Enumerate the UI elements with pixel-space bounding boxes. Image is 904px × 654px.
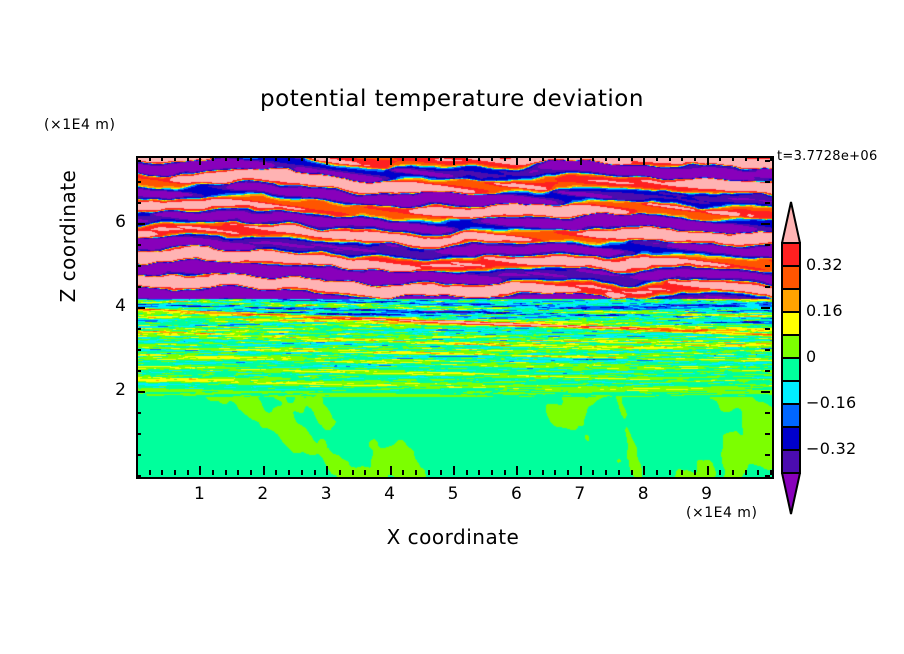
x-tick-top (212, 156, 214, 161)
x-tick-bottom (263, 466, 265, 475)
x-tick-top (529, 156, 531, 161)
z-tick-right (765, 160, 770, 162)
x-tick-bottom (314, 470, 316, 475)
x-tick-bottom (402, 470, 404, 475)
x-tick-bottom (225, 470, 227, 475)
x-tick-bottom (326, 466, 328, 475)
x-tick-top (491, 156, 493, 161)
z-tick-left (136, 349, 141, 351)
x-tick-bottom (504, 470, 506, 475)
x-tick-bottom (237, 470, 239, 475)
x-tick-top (161, 156, 163, 161)
x-tick-top (440, 156, 442, 161)
x-tick-label: 4 (375, 484, 405, 504)
x-tick-top (478, 156, 480, 161)
x-tick-bottom (377, 470, 379, 475)
x-tick-top (567, 156, 569, 161)
x-tick-bottom (554, 470, 556, 475)
x-tick-bottom (745, 470, 747, 475)
z-tick-left (136, 160, 141, 162)
colorbar-over-arrow (782, 202, 800, 243)
z-tick-right (765, 433, 770, 435)
colorbar-tick-label: −0.32 (806, 439, 857, 458)
x-tick-top (187, 156, 189, 161)
z-tick-right (765, 328, 770, 330)
x-tick-bottom (567, 470, 569, 475)
x-tick-bottom (415, 470, 417, 475)
x-tick-bottom (199, 466, 201, 475)
colorbar (781, 201, 801, 515)
colorbar-band (782, 404, 800, 427)
colorbar-band (782, 335, 800, 358)
x-tick-top (263, 156, 265, 165)
x-tick-label: 9 (692, 484, 722, 504)
x-tick-top (453, 156, 455, 165)
x-tick-bottom (631, 470, 633, 475)
x-tick-top (643, 156, 645, 165)
x-tick-top (618, 156, 620, 161)
x-tick-top (694, 156, 696, 161)
x-tick-bottom (618, 470, 620, 475)
x-tick-bottom (478, 470, 480, 475)
x-tick-bottom (453, 466, 455, 475)
x-tick-bottom (491, 470, 493, 475)
z-tick-left (136, 412, 141, 414)
x-tick-top (149, 156, 151, 161)
x-tick-bottom (428, 470, 430, 475)
x-tick-bottom (250, 470, 252, 475)
x-tick-bottom (301, 470, 303, 475)
page-title: potential temperature deviation (0, 86, 904, 112)
z-tick-left (136, 475, 141, 477)
x-tick-top (237, 156, 239, 161)
z-tick-right (765, 370, 770, 372)
x-tick-bottom (275, 470, 277, 475)
x-tick-bottom (352, 470, 354, 475)
x-tick-top (390, 156, 392, 165)
x-tick-top (415, 156, 417, 161)
x-tick-top (288, 156, 290, 161)
colorbar-band (782, 381, 800, 404)
x-tick-top (631, 156, 633, 161)
colorbar-tick-label: −0.16 (806, 393, 857, 412)
x-tick-top (516, 156, 518, 165)
x-tick-top (745, 156, 747, 161)
contour-plot-figure: potential temperature deviation (×1E4 m)… (0, 0, 904, 654)
x-axis-unit-label: (×1E4 m) (686, 505, 757, 521)
plot-area (136, 156, 774, 479)
x-tick-top (352, 156, 354, 161)
x-tick-bottom (364, 470, 366, 475)
x-axis-title: X coordinate (136, 525, 770, 549)
y-axis-title: Z coordinate (56, 146, 80, 326)
x-tick-bottom (542, 470, 544, 475)
x-tick-bottom (187, 470, 189, 475)
colorbar-band (782, 358, 800, 381)
x-tick-bottom (694, 470, 696, 475)
x-tick-top (681, 156, 683, 161)
z-tick-right (765, 475, 770, 477)
x-tick-top (402, 156, 404, 161)
x-tick-top (326, 156, 328, 165)
x-tick-top (339, 156, 341, 161)
x-tick-label: 1 (184, 484, 214, 504)
x-tick-bottom (719, 470, 721, 475)
z-tick-left (136, 223, 145, 225)
x-tick-bottom (466, 470, 468, 475)
x-tick-top (250, 156, 252, 161)
z-tick-right (761, 391, 770, 393)
x-tick-bottom (757, 470, 759, 475)
x-tick-bottom (707, 466, 709, 475)
timestamp-annotation: t=3.7728e+06 (777, 149, 878, 164)
x-tick-top (719, 156, 721, 161)
x-tick-top (656, 156, 658, 161)
x-tick-top (757, 156, 759, 161)
z-tick-right (765, 244, 770, 246)
x-tick-top (542, 156, 544, 161)
x-tick-bottom (212, 470, 214, 475)
x-tick-bottom (681, 470, 683, 475)
z-tick-right (765, 265, 770, 267)
z-tick-left (136, 454, 141, 456)
x-tick-top (364, 156, 366, 161)
z-tick-left (136, 433, 141, 435)
x-tick-label: 8 (628, 484, 658, 504)
x-tick-top (504, 156, 506, 161)
colorbar-band (782, 266, 800, 289)
x-tick-bottom (149, 470, 151, 475)
x-tick-bottom (770, 470, 772, 475)
z-tick-right (765, 181, 770, 183)
z-tick-label: 6 (96, 212, 126, 232)
z-tick-left (136, 391, 145, 393)
x-tick-top (377, 156, 379, 161)
x-tick-top (580, 156, 582, 165)
x-tick-bottom (656, 470, 658, 475)
x-tick-bottom (516, 466, 518, 475)
x-tick-bottom (440, 470, 442, 475)
z-tick-left (136, 286, 141, 288)
colorbar-tick-label: 0 (806, 347, 816, 366)
x-tick-bottom (288, 470, 290, 475)
z-tick-left (136, 328, 141, 330)
x-tick-top (605, 156, 607, 161)
x-tick-label: 6 (501, 484, 531, 504)
z-tick-right (765, 349, 770, 351)
x-tick-bottom (390, 466, 392, 475)
z-tick-left (136, 265, 141, 267)
colorbar-band (782, 289, 800, 312)
z-tick-left (136, 202, 141, 204)
z-tick-right (765, 202, 770, 204)
x-tick-top (174, 156, 176, 161)
z-tick-right (765, 412, 770, 414)
x-tick-top (554, 156, 556, 161)
x-tick-top (314, 156, 316, 161)
x-tick-label: 7 (565, 484, 595, 504)
z-tick-left (136, 181, 141, 183)
colorbar-tick-label: 0.16 (806, 301, 843, 320)
colorbar-band (782, 450, 800, 473)
z-tick-right (761, 223, 770, 225)
z-tick-right (765, 454, 770, 456)
x-tick-top (428, 156, 430, 161)
x-tick-bottom (605, 470, 607, 475)
x-tick-label: 2 (248, 484, 278, 504)
colorbar-under-arrow (782, 473, 800, 514)
x-tick-label: 5 (438, 484, 468, 504)
colorbar-band (782, 427, 800, 450)
x-tick-bottom (339, 470, 341, 475)
x-tick-label: 3 (311, 484, 341, 504)
z-tick-right (761, 307, 770, 309)
colorbar-swatches (781, 201, 801, 515)
x-tick-top (732, 156, 734, 161)
colorbar-band (782, 312, 800, 335)
x-tick-top (592, 156, 594, 161)
colorbar-tick-label: 0.32 (806, 255, 843, 274)
y-axis-unit-label: (×1E4 m) (44, 117, 115, 133)
x-tick-bottom (580, 466, 582, 475)
x-tick-top (707, 156, 709, 165)
x-tick-bottom (732, 470, 734, 475)
x-tick-top (770, 156, 772, 161)
x-tick-bottom (174, 470, 176, 475)
x-tick-top (275, 156, 277, 161)
z-tick-right (765, 286, 770, 288)
z-tick-label: 4 (96, 296, 126, 316)
z-tick-left (136, 307, 145, 309)
x-tick-top (301, 156, 303, 161)
z-tick-left (136, 244, 141, 246)
x-tick-top (225, 156, 227, 161)
x-tick-bottom (161, 470, 163, 475)
x-tick-bottom (669, 470, 671, 475)
x-tick-top (199, 156, 201, 165)
x-tick-bottom (529, 470, 531, 475)
x-tick-bottom (592, 470, 594, 475)
z-tick-left (136, 370, 141, 372)
contour-field (138, 158, 772, 477)
colorbar-band (782, 243, 800, 266)
z-tick-label: 2 (96, 380, 126, 400)
x-tick-bottom (643, 466, 645, 475)
x-tick-top (669, 156, 671, 161)
x-tick-top (466, 156, 468, 161)
